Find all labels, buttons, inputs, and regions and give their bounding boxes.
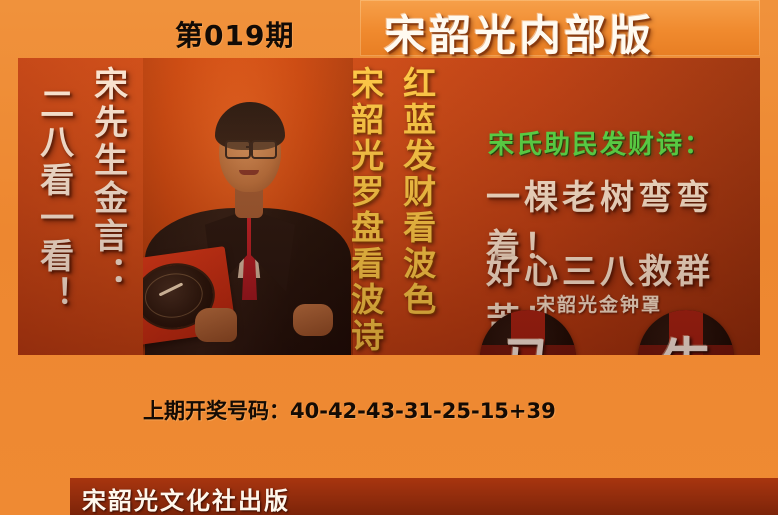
- glasses-bridge: [246, 146, 253, 148]
- slogan-mid-inner: 宋韶光罗盘看波诗：: [348, 66, 382, 355]
- main-image-panel: 二八看一看！ 宋先生金言： 宋韶光罗盘看波诗： 红: [18, 58, 760, 355]
- previous-draw-numbers: 上期开奖号码：40-42-43-31-25-15+39: [143, 395, 556, 425]
- mouth: [239, 170, 259, 175]
- issue-number: 第019期: [175, 14, 294, 54]
- glasses-lens-left: [225, 140, 251, 159]
- title-banner: 宋韶光内部版: [360, 0, 760, 56]
- slogan-mid-outer: 红蓝发财看波色: [400, 66, 434, 318]
- poster-root: 第019期 宋韶光内部版 二八看一看！ 宋先生金言：: [0, 0, 778, 515]
- page-title: 宋韶光内部版: [384, 2, 654, 63]
- hand-right: [293, 304, 333, 336]
- zodiac-char-2: 牛: [638, 310, 734, 355]
- footer-bar: 宋韶光文化社出版: [70, 478, 778, 515]
- zodiac-medallion-2: 牛: [638, 310, 734, 355]
- poem-heading: 宋氏助民发财诗：: [488, 124, 712, 161]
- zodiac-medallion-1: 马: [480, 310, 576, 355]
- slogan-left-inner: 宋先生金言：: [90, 66, 125, 294]
- portrait-photo: [143, 58, 353, 355]
- header: 第019期 宋韶光内部版: [0, 0, 778, 58]
- glasses-lens-right: [251, 140, 277, 159]
- publisher-name: 宋韶光文化社出版: [82, 481, 290, 515]
- zodiac-char-1: 马: [480, 310, 576, 355]
- slogan-left-outer: 二八看一看！: [36, 86, 71, 314]
- hand-left: [195, 308, 237, 342]
